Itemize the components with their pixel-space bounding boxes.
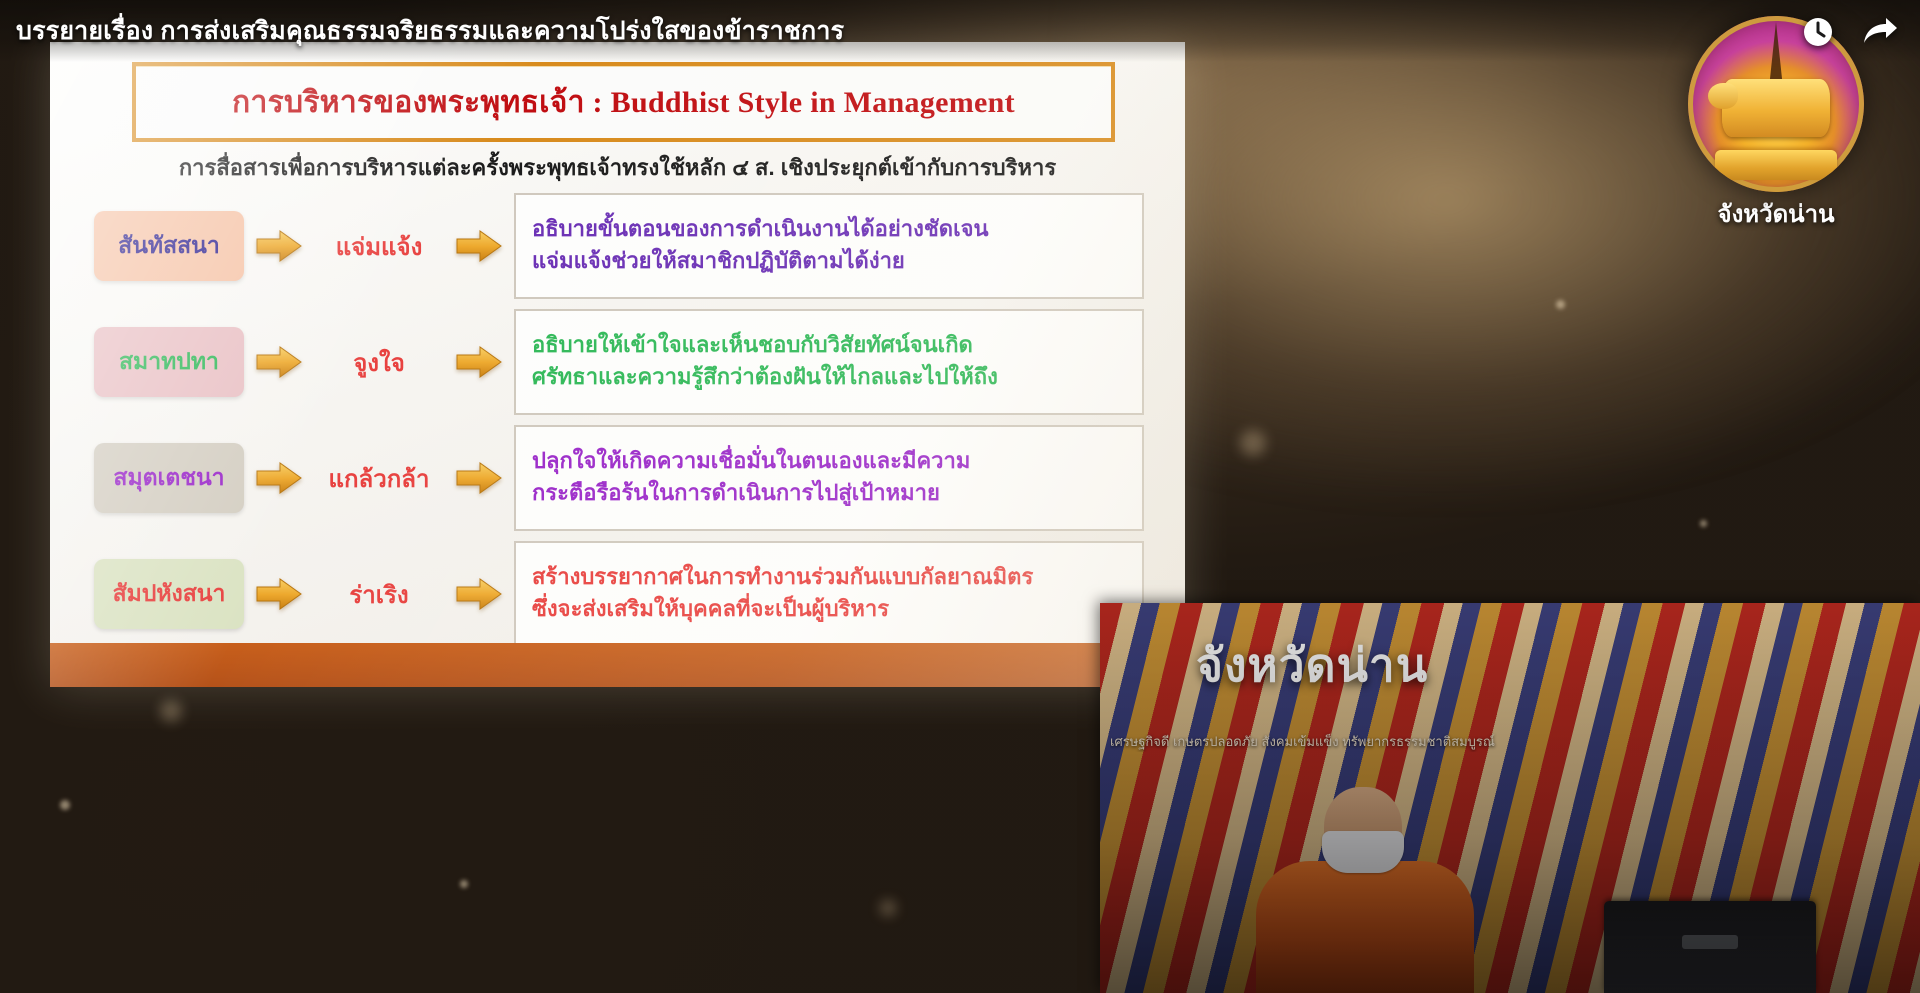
presentation-slide: การบริหารของพระพุทธเจ้า : Buddhist Style…	[50, 42, 1185, 687]
principle-keyword: จูงใจ	[314, 343, 444, 382]
description-line: ศรัทธาและความรู้สึกว่าต้องฝันให้ไกลและไป…	[532, 363, 1128, 392]
caption-text: บรรยายเรื่อง การส่งเสริมคุณธรรมจริยธรรมแ…	[16, 11, 844, 51]
principle-term: สันทัสสนา	[94, 211, 244, 281]
principle-term: สัมปหังสนา	[94, 559, 244, 629]
principles-list: สันทัสสนา แจ่มแจ้ง อธิบายขั้นตอนของการดำ…	[94, 194, 1144, 658]
principle-keyword: แกล้วกล้า	[314, 459, 444, 498]
bokeh-light	[1556, 300, 1565, 309]
arrow-right-icon	[456, 345, 502, 379]
share-icon[interactable]	[1862, 14, 1898, 50]
principle-description: สร้างบรรยากาศในการทำงานร่วมกันแบบกัลยาณม…	[514, 541, 1144, 647]
arrow-right-icon	[456, 577, 502, 611]
arrow-right-icon	[256, 577, 302, 611]
description-line: อธิบายขั้นตอนของการดำเนินงานได้อย่างชัดเ…	[532, 215, 1128, 244]
principle-keyword: ร่าเริง	[314, 575, 444, 614]
description-line: สร้างบรรยากาศในการทำงานร่วมกันแบบกัลยาณม…	[532, 563, 1128, 592]
principle-description: ปลุกใจให้เกิดความเชื่อมั่นในตนเองและมีคว…	[514, 425, 1144, 531]
slide-title-box: การบริหารของพระพุทธเจ้า : Buddhist Style…	[132, 62, 1115, 142]
slide-title: การบริหารของพระพุทธเจ้า : Buddhist Style…	[232, 79, 1015, 126]
principle-description: อธิบายให้เข้าใจและเห็นชอบกับวิสัยทัศน์จน…	[514, 309, 1144, 415]
clock-icon[interactable]	[1800, 14, 1836, 50]
video-stage: การบริหารของพระพุทธเจ้า : Buddhist Style…	[0, 0, 1920, 993]
caption-bar: บรรยายเรื่อง การส่งเสริมคุณธรรมจริยธรรมแ…	[0, 0, 1920, 62]
arrow-right-icon	[456, 229, 502, 263]
bokeh-light	[1240, 430, 1266, 456]
emblem-bull	[1722, 79, 1830, 137]
description-line: กระตือรือร้นในการดำเนินการไปสู่เป้าหมาย	[532, 479, 1128, 508]
speaker-video-overlay[interactable]: จังหวัดน่าน เศรษฐกิจดี เกษตรปลอดภัย สังค…	[1100, 603, 1920, 993]
slide-subtitle: การสื่อสารเพื่อการบริหารแต่ละครั้งพระพุท…	[50, 150, 1185, 185]
principle-row: สมุตเตชนา แกล้วกล้า ปลุกใจให้เกิดความเชื…	[94, 426, 1144, 530]
pip-vignette	[1100, 603, 1920, 993]
emblem-pedestal	[1715, 150, 1837, 180]
bokeh-light	[60, 800, 70, 810]
principle-row: สมาทปทา จูงใจ อธิบายให้เข้าใจและเห็นชอบก…	[94, 310, 1144, 414]
bokeh-light	[160, 700, 182, 722]
description-line: ปลุกใจให้เกิดความเชื่อมั่นในตนเองและมีคว…	[532, 447, 1128, 476]
description-line: ซึ่งจะส่งเสริมให้บุคคลที่จะเป็นผู้บริหาร	[532, 595, 1128, 624]
bokeh-light	[460, 880, 468, 888]
bokeh-light	[1700, 520, 1707, 527]
description-line: อธิบายให้เข้าใจและเห็นชอบกับวิสัยทัศน์จน…	[532, 331, 1128, 360]
arrow-right-icon	[256, 461, 302, 495]
arrow-right-icon	[256, 345, 302, 379]
description-line: แจ่มแจ้งช่วยให้สมาชิกปฏิบัติตามได้ง่าย	[532, 247, 1128, 276]
principle-row: สัมปหังสนา ร่าเริง สร้างบรรยากาศในการทำง…	[94, 542, 1144, 646]
slide-footer-bar	[50, 643, 1185, 687]
overlay-controls	[1800, 14, 1898, 50]
principle-term: สมุตเตชนา	[94, 443, 244, 513]
principle-row: สันทัสสนา แจ่มแจ้ง อธิบายขั้นตอนของการดำ…	[94, 194, 1144, 298]
province-name: จังหวัดน่าน	[1688, 194, 1864, 233]
principle-description: อธิบายขั้นตอนของการดำเนินงานได้อย่างชัดเ…	[514, 193, 1144, 299]
principle-keyword: แจ่มแจ้ง	[314, 227, 444, 266]
principle-term: สมาทปทา	[94, 327, 244, 397]
arrow-right-icon	[256, 229, 302, 263]
bokeh-light	[880, 900, 896, 916]
arrow-right-icon	[456, 461, 502, 495]
